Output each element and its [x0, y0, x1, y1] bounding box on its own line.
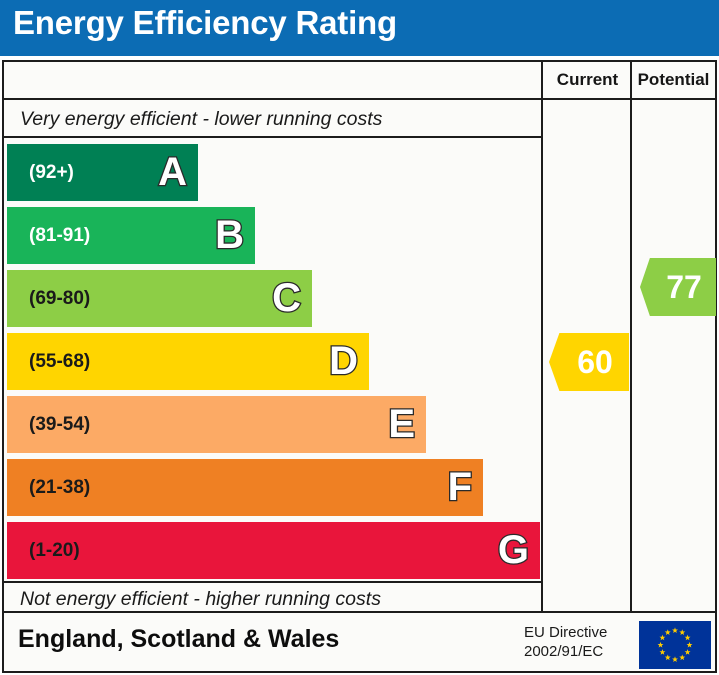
band-letter-label: F [448, 467, 472, 507]
caption-not-efficient: Not energy efficient - higher running co… [20, 588, 557, 611]
band-letter-label: D [329, 341, 358, 381]
column-header-potential: Potential [632, 62, 715, 98]
rating-band: (81-91)B [7, 207, 255, 264]
band-letter-label: G [498, 530, 529, 570]
band-range-label: (21-38) [29, 477, 90, 499]
rating-band: (92+)A [7, 144, 198, 201]
potential-rating-value: 77 [640, 271, 716, 303]
directive-line-1: EU Directive [524, 624, 634, 643]
band-letter-label: A [158, 152, 187, 192]
band-range-label: (81-91) [29, 225, 90, 247]
rating-band: (21-38)F [7, 459, 483, 516]
column-separator-current [541, 62, 543, 611]
band-letter-label: B [215, 215, 244, 255]
rating-band: (69-80)C [7, 270, 312, 327]
band-range-label: (92+) [29, 162, 74, 184]
rating-band: (39-54)E [7, 396, 426, 453]
column-separator-potential [630, 62, 632, 611]
current-rating-value: 60 [549, 346, 629, 378]
rating-bands: (92+)A(81-91)B(69-80)C(55-68)D(39-54)E(2… [4, 62, 541, 611]
chart-footer: England, Scotland & Wales EU Directive 2… [2, 613, 717, 673]
rating-table: Current Potential Very energy efficient … [2, 60, 717, 613]
column-header-current: Current [543, 62, 632, 98]
band-range-label: (39-54) [29, 414, 90, 436]
chart-title-bar: Energy Efficiency Rating [0, 0, 719, 56]
rating-band: (1-20)G [7, 522, 540, 579]
potential-rating-marker: 77 [640, 258, 716, 316]
directive-line-2: 2002/91/EC [524, 643, 634, 662]
footer-region-label: England, Scotland & Wales [18, 625, 339, 654]
band-range-label: (55-68) [29, 351, 90, 373]
page-title: Energy Efficiency Rating [13, 4, 397, 42]
energy-efficiency-rating-chart: Energy Efficiency Rating Current Potenti… [0, 0, 719, 675]
band-letter-label: C [272, 278, 301, 318]
band-range-label: (1-20) [29, 540, 80, 562]
eu-flag-icon [639, 621, 711, 669]
footer-directive: EU Directive 2002/91/EC [524, 624, 634, 662]
caption-rule-bottom [4, 581, 541, 583]
band-letter-label: E [388, 404, 415, 444]
band-range-label: (69-80) [29, 288, 90, 310]
rating-band: (55-68)D [7, 333, 369, 390]
current-rating-marker: 60 [549, 333, 629, 391]
